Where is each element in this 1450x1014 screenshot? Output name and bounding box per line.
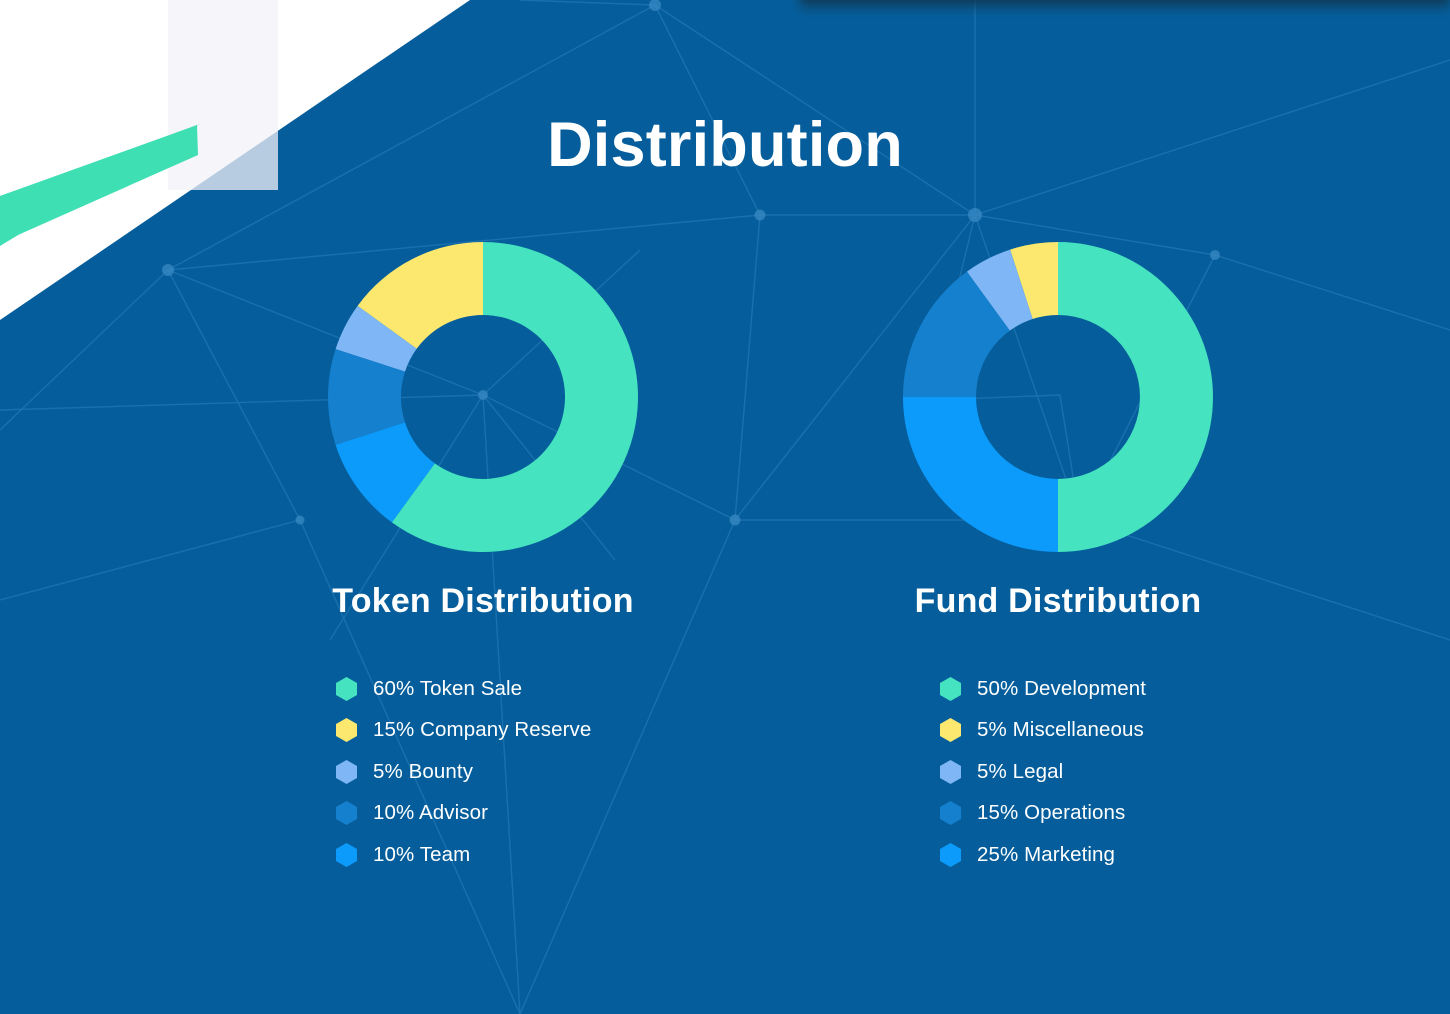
fund-distribution-chart-block: Fund Distribution (843, 232, 1273, 621)
token-distribution-donut[interactable] (323, 237, 643, 557)
legend-item[interactable]: 10% Team (336, 834, 591, 876)
legend-hexagon-icon (336, 801, 357, 825)
legend-item-label: 10% Team (373, 843, 470, 867)
legend-item[interactable]: 60% Token Sale (336, 668, 591, 710)
legend-item[interactable]: 10% Advisor (336, 793, 591, 835)
legend-item-label: 5% Legal (977, 760, 1063, 784)
legend-item-label: 15% Company Reserve (373, 718, 591, 742)
legend-item-label: 5% Miscellaneous (977, 718, 1144, 742)
legend-item[interactable]: 5% Miscellaneous (940, 710, 1146, 752)
page-title: Distribution (0, 112, 1450, 178)
fund-distribution-donut-wrap (843, 232, 1273, 562)
legend-item[interactable]: 25% Marketing (940, 834, 1146, 876)
legend-item-label: 10% Advisor (373, 801, 488, 825)
legend-hexagon-icon (336, 843, 357, 867)
donut-slice-marketing[interactable] (903, 397, 1058, 552)
legend-item[interactable]: 5% Legal (940, 751, 1146, 793)
legend-item[interactable]: 15% Company Reserve (336, 710, 591, 752)
donut-slice-development[interactable] (1058, 242, 1213, 552)
fund-distribution-legend: 50% Development5% Miscellaneous5% Legal1… (940, 668, 1146, 876)
top-edge-shadow-strip (800, 0, 1450, 12)
token-distribution-title: Token Distribution (268, 582, 698, 621)
legend-hexagon-icon (940, 677, 961, 701)
token-distribution-donut-wrap (268, 232, 698, 562)
legend-item[interactable]: 15% Operations (940, 793, 1146, 835)
legend-item-label: 60% Token Sale (373, 677, 522, 701)
legend-hexagon-icon (940, 718, 961, 742)
fund-distribution-title: Fund Distribution (843, 582, 1273, 621)
legend-hexagon-icon (336, 760, 357, 784)
legend-item[interactable]: 5% Bounty (336, 751, 591, 793)
legend-hexagon-icon (940, 801, 961, 825)
legend-hexagon-icon (336, 718, 357, 742)
legend-hexagon-icon (336, 677, 357, 701)
legend-item-label: 15% Operations (977, 801, 1125, 825)
legend-item-label: 50% Development (977, 677, 1146, 701)
legend-hexagon-icon (940, 843, 961, 867)
legend-item-label: 25% Marketing (977, 843, 1115, 867)
legend-item[interactable]: 50% Development (940, 668, 1146, 710)
legend-item-label: 5% Bounty (373, 760, 473, 784)
slide-canvas: Distribution Token Distribution Fund Dis… (0, 0, 1450, 1014)
fund-distribution-donut[interactable] (898, 237, 1218, 557)
legend-hexagon-icon (940, 760, 961, 784)
token-distribution-legend: 60% Token Sale15% Company Reserve5% Boun… (336, 668, 591, 876)
token-distribution-chart-block: Token Distribution (268, 232, 698, 621)
